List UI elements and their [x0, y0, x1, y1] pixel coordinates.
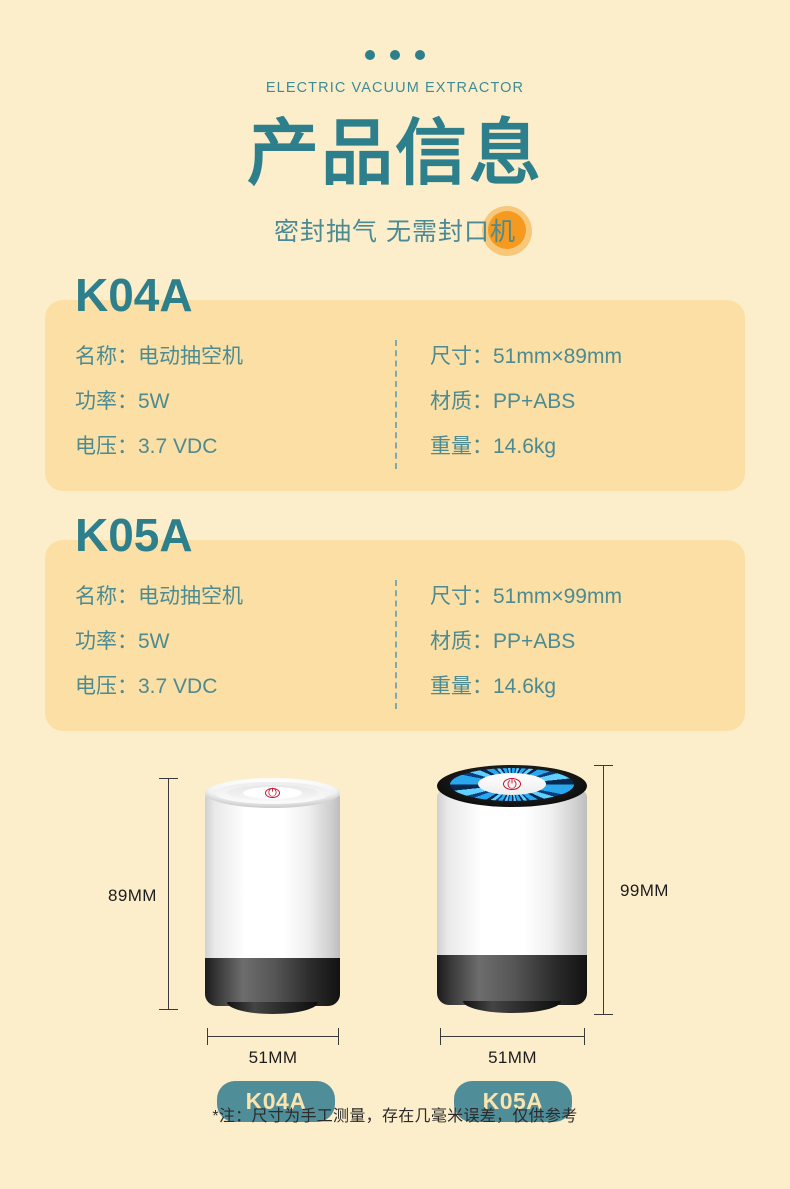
spec-value: 51mm×89mm [493, 345, 622, 368]
height-dimension-line-k05a [603, 765, 604, 1015]
spec-row: 名称：电动抽空机 [75, 574, 390, 619]
spec-row: 材质：PP+ABS [430, 619, 745, 664]
spec-card-k05a: K05A 名称：电动抽空机 功率：5W 电压：3.7 VDC 尺寸：51mm×9… [45, 513, 745, 731]
spec-label: 材质： [430, 630, 493, 653]
decorative-dots [0, 50, 790, 60]
eyebrow-text: ELECTRIC VACUUM EXTRACTOR [0, 80, 790, 96]
width-dimension-label-k05a: 51MM [440, 1048, 585, 1068]
spec-card-body: 名称：电动抽空机 功率：5W 电压：3.7 VDC 尺寸：51mm×89mm 材… [45, 300, 745, 491]
spec-row: 功率：5W [75, 619, 390, 664]
spec-value: 14.6kg [493, 435, 556, 458]
dot-icon [415, 50, 425, 60]
spec-label: 尺寸： [430, 345, 493, 368]
product-image-k04a: ⏻ [205, 778, 340, 1016]
spec-value: 5W [138, 630, 170, 653]
spec-value: 电动抽空机 [138, 345, 243, 368]
width-dimension-line-k05a [440, 1036, 585, 1037]
device-body [437, 791, 587, 969]
spec-label: 材质： [430, 390, 493, 413]
spec-card-k04a: K04A 名称：电动抽空机 功率：5W 电压：3.7 VDC 尺寸：51mm×8… [45, 273, 745, 491]
product-image-k05a: ⏻ [437, 765, 587, 1017]
spec-row: 电压：3.7 VDC [75, 424, 390, 469]
width-dimension-label-k04a: 51MM [207, 1048, 339, 1068]
spec-label: 电压： [75, 675, 138, 698]
spec-label: 重量： [430, 675, 493, 698]
spec-value: 3.7 VDC [138, 435, 217, 458]
spec-row: 尺寸：51mm×89mm [430, 334, 745, 379]
spec-value: 5W [138, 390, 170, 413]
spec-value: 51mm×99mm [493, 585, 622, 608]
spec-column-left: 名称：电动抽空机 功率：5W 电压：3.7 VDC [45, 334, 390, 469]
spec-row: 材质：PP+ABS [430, 379, 745, 424]
device-base [437, 955, 587, 1005]
spec-row: 重量：14.6kg [430, 664, 745, 709]
page-title: 产品信息 [0, 118, 790, 190]
subtitle-wrapper: 密封抽气 无需封口机 [274, 212, 516, 248]
spec-row: 名称：电动抽空机 [75, 334, 390, 379]
device-foot [227, 1002, 318, 1014]
spec-column-right: 尺寸：51mm×99mm 材质：PP+ABS 重量：14.6kg [390, 574, 745, 709]
device-base [205, 958, 340, 1006]
spec-value: PP+ABS [493, 390, 575, 413]
spec-label: 功率： [75, 390, 138, 413]
power-icon: ⏻ [265, 788, 280, 799]
spec-label: 名称： [75, 585, 138, 608]
page-header: ELECTRIC VACUUM EXTRACTOR 产品信息 密封抽气 无需封口… [0, 0, 790, 248]
model-heading: K04A [45, 273, 745, 318]
card-divider [395, 580, 397, 709]
dot-icon [365, 50, 375, 60]
power-icon: ⏻ [503, 778, 521, 790]
spec-value: 14.6kg [493, 675, 556, 698]
spec-row: 重量：14.6kg [430, 424, 745, 469]
spec-label: 名称： [75, 345, 138, 368]
model-heading: K05A [45, 513, 745, 558]
spec-label: 功率： [75, 630, 138, 653]
spec-label: 重量： [430, 435, 493, 458]
card-divider [395, 340, 397, 469]
height-dimension-label-k04a: 89MM [108, 886, 157, 906]
spec-label: 尺寸： [430, 585, 493, 608]
spec-row: 尺寸：51mm×99mm [430, 574, 745, 619]
width-dimension-line-k04a [207, 1036, 339, 1037]
dot-icon [390, 50, 400, 60]
spec-row: 电压：3.7 VDC [75, 664, 390, 709]
footnote-text: *注：尺寸为手工测量，存在几毫米误差，仅供参考 [0, 1102, 790, 1126]
spec-value: 电动抽空机 [138, 585, 243, 608]
spec-card-body: 名称：电动抽空机 功率：5W 电压：3.7 VDC 尺寸：51mm×99mm 材… [45, 540, 745, 731]
spec-column-left: 名称：电动抽空机 功率：5W 电压：3.7 VDC [45, 574, 390, 709]
page-subtitle: 密封抽气 无需封口机 [274, 218, 516, 246]
height-dimension-line-k04a [168, 778, 169, 1010]
spec-label: 电压： [75, 435, 138, 458]
spec-value: 3.7 VDC [138, 675, 217, 698]
spec-column-right: 尺寸：51mm×89mm 材质：PP+ABS 重量：14.6kg [390, 334, 745, 469]
device-body [205, 792, 340, 972]
height-dimension-label-k05a: 99MM [620, 881, 669, 901]
device-foot [463, 1001, 561, 1013]
product-gallery: 89MM ⏻ 51MM K04A 99MM ⏻ 51MM K05A [0, 753, 790, 1133]
spec-value: PP+ABS [493, 630, 575, 653]
spec-row: 功率：5W [75, 379, 390, 424]
spec-cards: K04A 名称：电动抽空机 功率：5W 电压：3.7 VDC 尺寸：51mm×8… [0, 273, 790, 731]
